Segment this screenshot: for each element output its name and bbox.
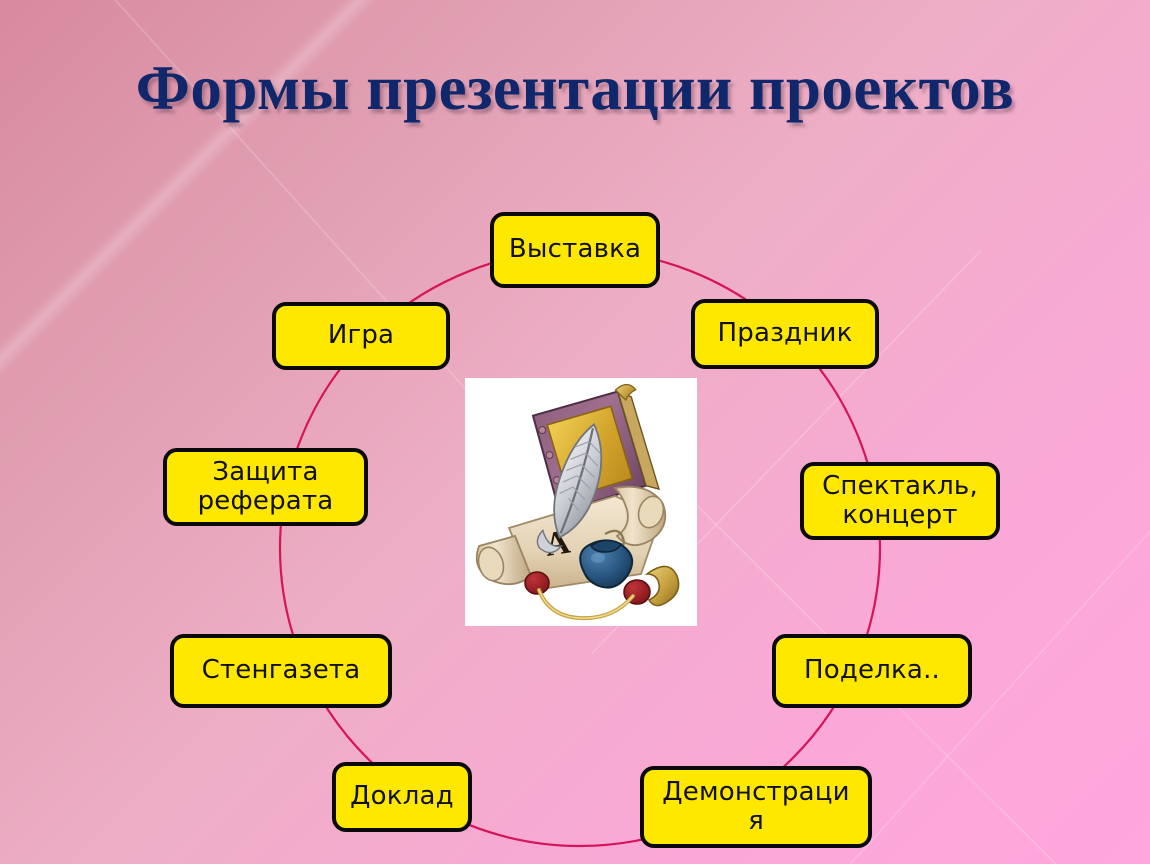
node-vystavka[interactable]: Выставка	[490, 212, 660, 288]
node-zashchita-referata[interactable]: Защита реферата	[163, 448, 368, 526]
node-prazdnik[interactable]: Праздник	[691, 299, 879, 369]
node-podelka[interactable]: Поделка..	[772, 634, 972, 708]
node-spektakl-koncert[interactable]: Спектакль, концерт	[800, 462, 1000, 540]
node-igra[interactable]: Игра	[272, 302, 450, 370]
node-demonstraciya[interactable]: Демонстраци я	[640, 766, 872, 848]
node-stengazeta[interactable]: Стенгазета	[170, 634, 392, 708]
slide-canvas: Формы презентации проектов	[0, 0, 1150, 864]
center-clipart: A	[465, 378, 697, 626]
node-doklad[interactable]: Доклад	[332, 762, 472, 832]
